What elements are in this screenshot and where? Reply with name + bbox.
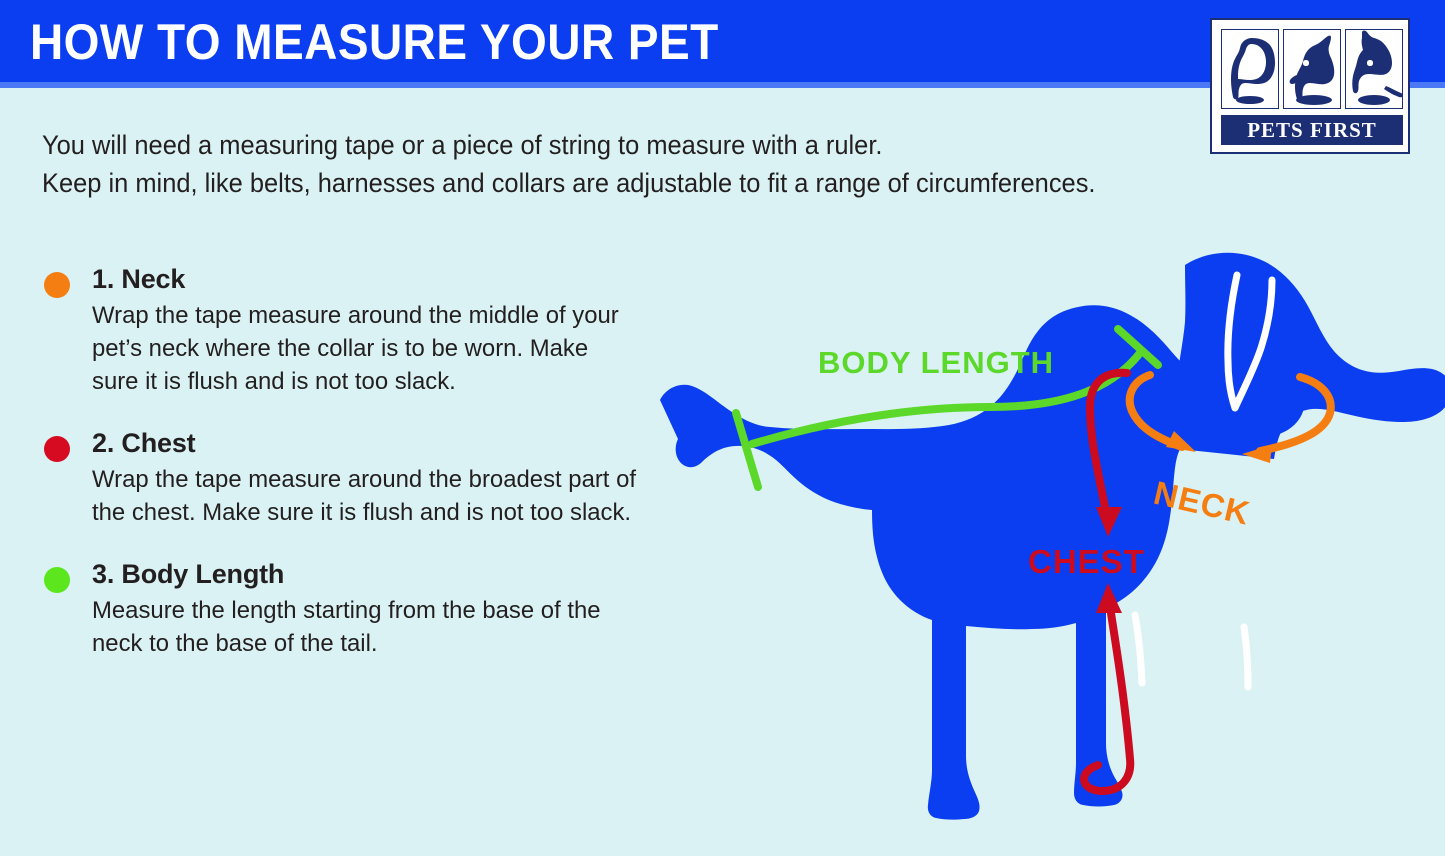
page-title: HOW TO MEASURE YOUR PET — [30, 17, 719, 67]
step-bullet-chest — [44, 436, 70, 462]
step-title: 3. Body Length — [92, 557, 652, 591]
step-title: 2. Chest — [92, 426, 652, 460]
list-item: 2. Chest Wrap the tape measure around th… — [42, 426, 652, 529]
measurement-steps-list: 1. Neck Wrap the tape measure around the… — [42, 262, 652, 688]
dog-howling-icon — [1283, 29, 1341, 109]
step-title: 1. Neck — [92, 262, 652, 296]
intro-line-2: Keep in mind, like belts, harnesses and … — [42, 164, 1223, 202]
dog-silhouette-icon — [660, 253, 1445, 820]
dog-front-leg-line — [1135, 615, 1142, 683]
list-item: 3. Body Length Measure the length starti… — [42, 557, 652, 660]
intro-line-1: You will need a measuring tape or a piec… — [42, 126, 1223, 164]
list-item: 1. Neck Wrap the tape measure around the… — [42, 262, 652, 398]
dog-rear-leg-line — [1244, 627, 1248, 687]
body-length-label: BODY LENGTH — [818, 345, 1054, 380]
step-description: Wrap the tape measure around the broades… — [92, 463, 638, 529]
step-description: Measure the length starting from the bas… — [92, 594, 638, 660]
dog-sitting-icon — [1221, 29, 1279, 109]
dog-measurement-diagram: BODY LENGTH NECK CHEST — [640, 225, 1445, 856]
step-bullet-neck — [44, 272, 70, 298]
step-bullet-body-length — [44, 567, 70, 593]
intro-paragraph: You will need a measuring tape or a piec… — [42, 126, 1272, 202]
logo-panel-row — [1221, 29, 1403, 109]
chest-label: CHEST — [1028, 543, 1145, 580]
dog-sitting-alert-icon — [1345, 29, 1403, 109]
step-description: Wrap the tape measure around the middle … — [92, 299, 638, 398]
